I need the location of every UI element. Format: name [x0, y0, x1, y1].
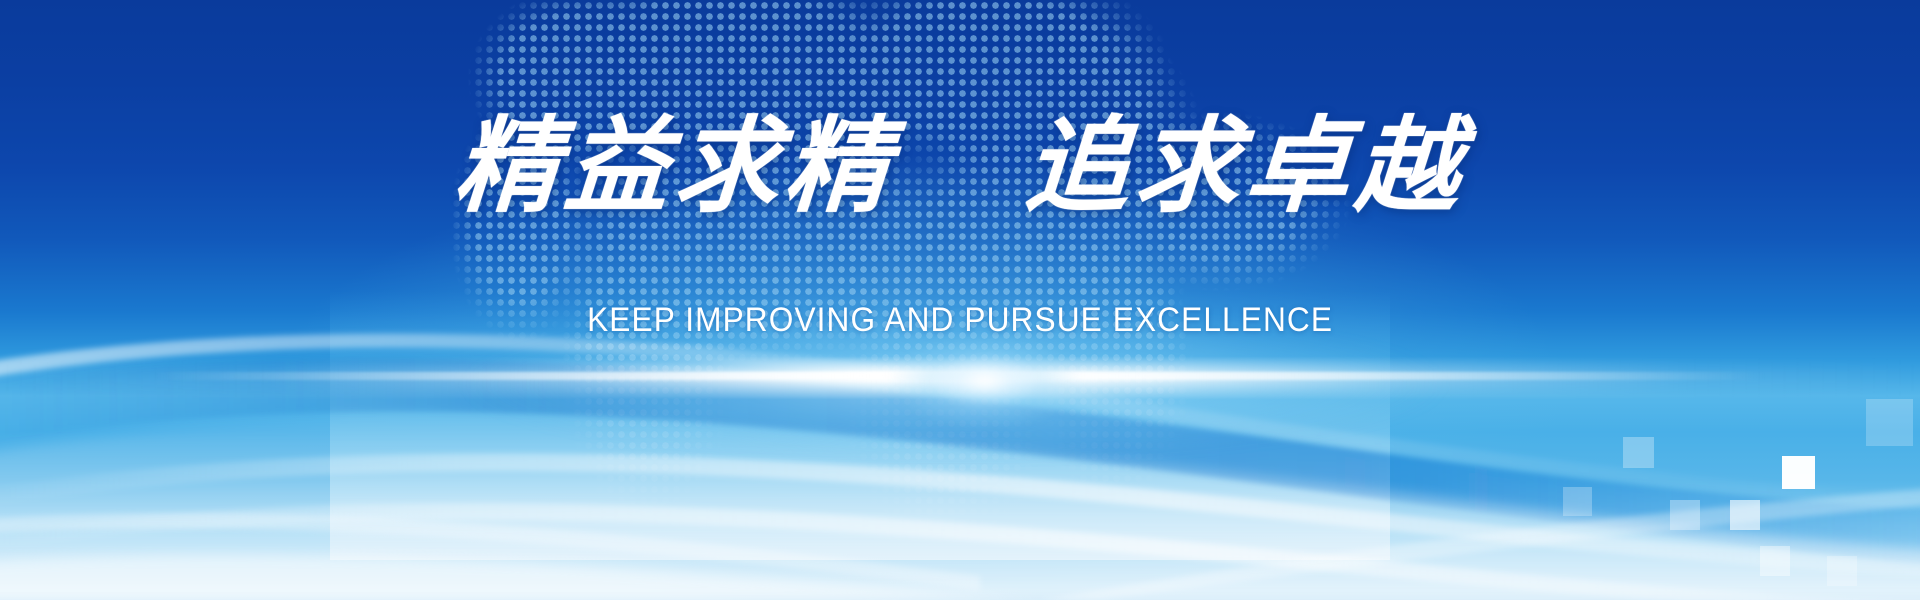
lens-flare-core [0, 372, 1920, 380]
floating-square [1563, 487, 1592, 516]
flowing-ribbon-waves [0, 270, 1920, 600]
headline-phrase-two: 追求卓越 [1021, 104, 1470, 227]
floating-square [1782, 456, 1815, 489]
hero-banner: 精益求精 追求卓越 KEEP IMPROVING AND PURSUE EXCE… [0, 0, 1920, 600]
subtitle-container: KEEP IMPROVING AND PURSUE EXCELLENCE [0, 301, 1920, 340]
lens-flare-hotspot [860, 316, 1110, 446]
floating-square [1866, 399, 1913, 446]
lens-flare-spread [330, 290, 1630, 480]
headline-container: 精益求精 追求卓越 [0, 108, 1920, 224]
headline-phrase-one: 精益求精 [451, 104, 900, 227]
floating-square [1760, 546, 1790, 576]
floating-square [1623, 437, 1654, 468]
subtitle-text: KEEP IMPROVING AND PURSUE EXCELLENCE [587, 301, 1333, 340]
floating-square [1670, 500, 1700, 530]
floating-square [1730, 500, 1760, 530]
dotted-world-map [330, 0, 1390, 560]
floating-square [1827, 556, 1857, 586]
lens-flare-band [0, 356, 1920, 400]
dotted-world-map-fade [330, 0, 1390, 560]
headline-calligraphy: 精益求精 追求卓越 [451, 108, 1470, 224]
background-glow [0, 0, 1920, 600]
